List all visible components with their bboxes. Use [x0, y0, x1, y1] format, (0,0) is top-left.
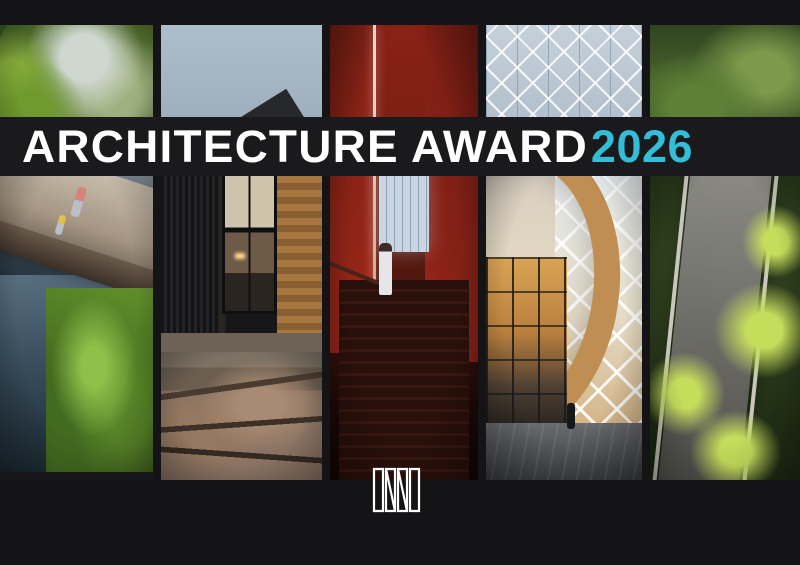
- fern-cluster: [737, 200, 800, 283]
- black-timber-house-photo: [161, 162, 321, 352]
- nn-monogram-logo: [369, 466, 431, 514]
- interior-lamp: [235, 253, 245, 259]
- title-main-text: ARCHITECTURE AWARD: [22, 124, 588, 169]
- vignette-overlay: [161, 352, 321, 480]
- mosaic-column-4: [486, 25, 641, 480]
- red-stairwell-photo: [330, 25, 478, 480]
- glazed-window: [222, 173, 277, 314]
- foliage-cluster: [46, 288, 153, 472]
- mosaic-column-2: [161, 25, 321, 480]
- mosaic-column-3: [330, 25, 478, 480]
- title-year-text: 2026: [591, 124, 693, 169]
- poster-title: ARCHITECTURE AWARD 2026: [0, 124, 693, 169]
- plaza-paving: [486, 423, 641, 480]
- gravel-ground: [161, 333, 321, 352]
- stair-treads: [339, 280, 470, 480]
- photo-mosaic: [0, 25, 800, 480]
- corrugated-cladding: [161, 162, 219, 352]
- fern-cluster: [683, 404, 788, 480]
- bridge-over-water-photo: [0, 155, 153, 472]
- curved-arch-atrium-photo: [486, 162, 641, 480]
- sunset-glass-reflection: [486, 257, 567, 422]
- elevated-walkway-photo: [650, 162, 800, 480]
- mosaic-column-5: [650, 25, 800, 480]
- title-banner: ARCHITECTURE AWARD 2026: [0, 117, 800, 176]
- walking-figure: [567, 403, 575, 429]
- poster-canvas: ARCHITECTURE AWARD 2026: [0, 0, 800, 565]
- timber-wall: [277, 162, 322, 352]
- mosaic-column-1: [0, 25, 153, 480]
- granite-rocks-photo: [161, 352, 321, 480]
- figure-in-white: [379, 243, 392, 295]
